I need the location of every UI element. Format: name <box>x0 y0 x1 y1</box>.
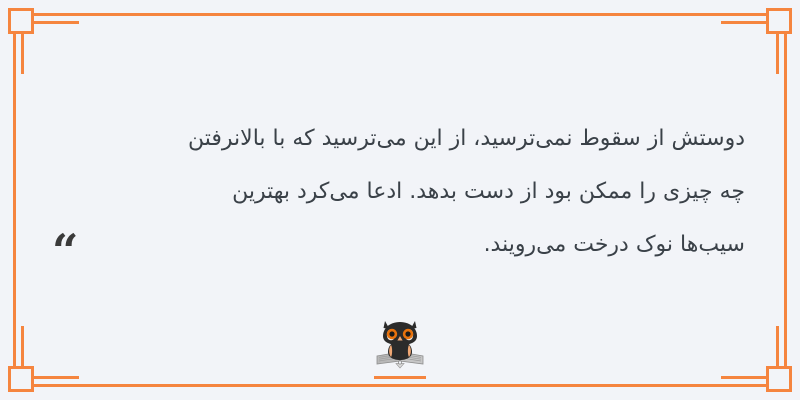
frame-line-top-stub-left <box>34 21 79 24</box>
frame-corner-top-left <box>8 8 34 34</box>
frame-line-right <box>784 34 787 366</box>
frame-line-bottom-stub-right <box>721 376 766 379</box>
open-quote-icon: “ <box>52 228 78 274</box>
frame-line-bottom-stub-left <box>34 376 79 379</box>
quote-card: دوستش از سقوط نمی‌ترسید، از این می‌ترسید… <box>0 0 800 400</box>
frame-line-top-stub-right <box>721 21 766 24</box>
quote-line-2: چه چیزی را ممکن بود از دست بدهد. ادعا می… <box>60 165 745 218</box>
frame-line-bottom-stub-center <box>374 376 426 379</box>
frame-corner-bottom-left <box>8 366 34 392</box>
owl-on-book-logo <box>372 312 428 370</box>
frame-line-top <box>34 13 766 16</box>
frame-line-right-stub-bottom <box>776 326 779 366</box>
frame-line-left <box>13 34 16 366</box>
quote-text-block: دوستش از سقوط نمی‌ترسید، از این می‌ترسید… <box>60 112 745 271</box>
frame-line-right-stub-top <box>776 34 779 74</box>
frame-line-bottom <box>34 384 766 387</box>
quote-line-1: دوستش از سقوط نمی‌ترسید، از این می‌ترسید… <box>60 112 745 165</box>
frame-corner-bottom-right <box>766 366 792 392</box>
frame-corner-top-right <box>766 8 792 34</box>
quote-line-3: سیب‌ها نوک درخت می‌رویند. <box>60 218 745 271</box>
frame-line-left-stub-top <box>21 34 24 74</box>
frame-line-left-stub-bottom <box>21 326 24 366</box>
